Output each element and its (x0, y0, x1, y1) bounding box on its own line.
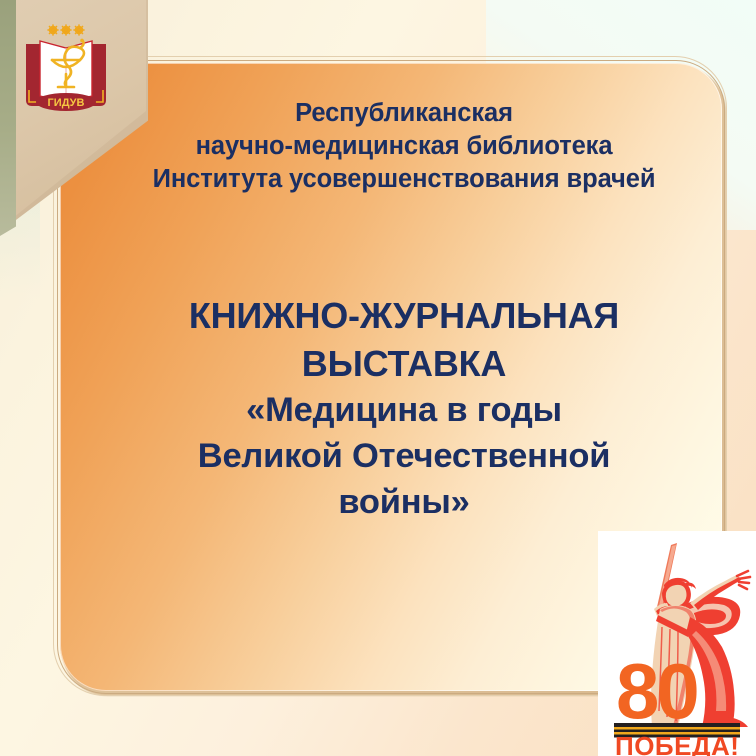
giduv-logo-caption: ГИДУВ (48, 97, 85, 109)
svg-text:80: 80 (616, 647, 697, 735)
title-line-4: Великой Отечественной (104, 434, 704, 480)
emblem-victory-word: ПОБЕДА! (615, 731, 739, 756)
poster-canvas: ГИДУВ Республиканская научно-медицинская… (0, 0, 756, 756)
institution-line-1: Республиканская (104, 97, 704, 130)
victory-80-emblem: 80 ПОБЕДА! (598, 531, 756, 756)
institution-line-3: Института усовершенствования врачей (104, 163, 704, 196)
giduv-logo-icon: ГИДУВ (16, 16, 116, 116)
exhibition-title: КНИЖНО-ЖУРНАЛЬНАЯ ВЫСТАВКА «Медицина в г… (104, 292, 704, 525)
emblem-anniversary-number: 80 (616, 647, 697, 735)
title-line-1: КНИЖНО-ЖУРНАЛЬНАЯ (104, 292, 704, 340)
title-line-3: «Медицина в годы (104, 388, 704, 434)
institution-line-2: научно-медицинская библиотека (104, 130, 704, 163)
svg-text:ПОБЕДА!: ПОБЕДА! (615, 731, 739, 756)
title-line-5: войны» (104, 480, 704, 526)
corner-banner-edge (0, 0, 16, 236)
title-line-2: ВЫСТАВКА (104, 340, 704, 388)
institution-header: Республиканская научно-медицинская библи… (104, 97, 704, 196)
